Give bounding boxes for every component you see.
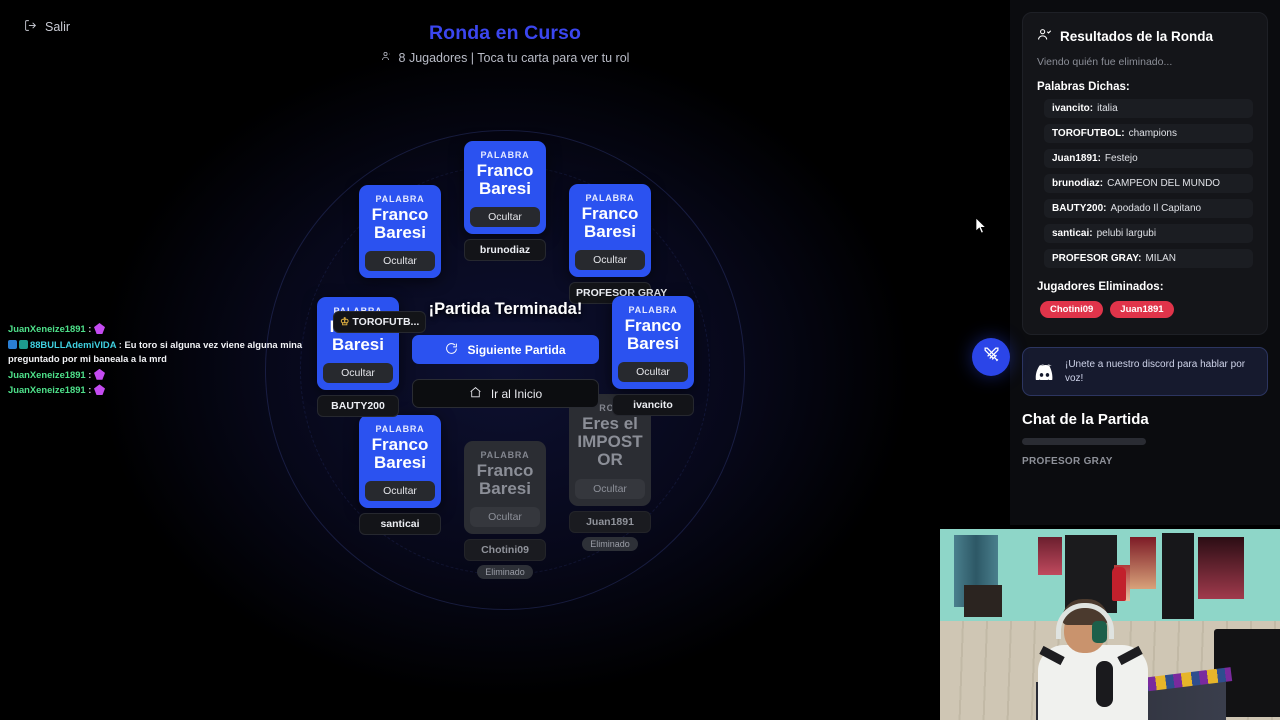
card-word: Franco Baresi xyxy=(617,317,689,353)
results-status-text: Viendo quién fue eliminado... xyxy=(1037,56,1253,68)
stage-header: Ronda en Curso 8 Jugadores | Toca tu car… xyxy=(0,22,1010,65)
users-icon xyxy=(381,50,393,65)
word-row: TOROFUTBOL:champions xyxy=(1044,124,1253,143)
word-row: brunodiaz:CAMPEON DEL MUNDO xyxy=(1044,174,1253,193)
card-kind-label: PALABRA xyxy=(364,194,436,204)
results-header: Resultados de la Ronda xyxy=(1037,27,1253,45)
webcam-headphone-earcup xyxy=(1092,621,1107,643)
hide-button[interactable]: Ocultar xyxy=(575,479,645,499)
player-name: Juan1891 xyxy=(569,511,651,533)
bits-badge-icon xyxy=(19,340,28,349)
card-word: Franco Baresi xyxy=(364,206,436,242)
twitch-chat-overlay: JuanXeneize1891 : 88BULLAdemiVIDA : Eu t… xyxy=(8,322,348,399)
word-row-player: TOROFUTBOL: xyxy=(1052,128,1125,139)
player-name: santicai xyxy=(359,513,441,535)
round-results-panel: Resultados de la Ronda Viendo quién fue … xyxy=(1022,12,1268,335)
word-row-player: BAUTY200: xyxy=(1052,203,1106,214)
twitch-chat-line: JuanXeneize1891 : xyxy=(8,322,348,337)
webcam-poster xyxy=(1198,537,1244,599)
swords-fab-button[interactable] xyxy=(972,338,1010,376)
round-subtitle: 8 Jugadores | Toca tu carta para ver tu … xyxy=(0,50,1010,65)
webcam-shelf xyxy=(964,585,1002,617)
word-row-word: MILAN xyxy=(1145,253,1176,264)
twitch-emote-icon xyxy=(94,384,105,395)
next-round-label: Siguiente Partida xyxy=(467,343,565,357)
discord-icon xyxy=(1034,364,1055,380)
card-role-text: Eres el IMPOSTOR xyxy=(574,415,646,470)
card-word: Franco Baresi xyxy=(574,205,646,241)
refresh-icon xyxy=(445,342,458,358)
game-over-panel: ¡Partida Terminada! Siguiente Partida Ir… xyxy=(412,300,599,408)
webcam-figure xyxy=(1112,567,1126,601)
word-row-word: Apodado Il Capitano xyxy=(1110,203,1201,214)
eliminated-badge: Eliminado xyxy=(582,537,638,551)
word-row: ivancito:italia xyxy=(1044,99,1253,118)
webcam-video xyxy=(940,529,1280,720)
round-subtitle-text: 8 Jugadores | Toca tu carta para ver tu … xyxy=(399,51,630,65)
card-word: Franco Baresi xyxy=(469,462,541,498)
twitch-chat-username: JuanXeneize1891 xyxy=(8,369,86,380)
page-title: Ronda en Curso xyxy=(0,22,1010,45)
word-card[interactable]: PALABRA Franco Baresi Ocultar xyxy=(612,296,694,389)
eliminated-badge: Eliminado xyxy=(477,565,533,579)
chat-scrollbar[interactable] xyxy=(1022,438,1146,445)
home-icon xyxy=(469,386,482,402)
results-title: Resultados de la Ronda xyxy=(1060,29,1213,44)
twitch-chat-username: JuanXeneize1891 xyxy=(8,384,86,395)
sub-badge-icon xyxy=(8,340,17,349)
eliminated-chip: Juan1891 xyxy=(1110,301,1173,318)
card-kind-label: PALABRA xyxy=(364,424,436,434)
twitch-chat-line: 88BULLAdemiVIDA : Eu toro si alguna vez … xyxy=(8,338,348,367)
twitch-emote-icon xyxy=(94,323,105,334)
hide-button[interactable]: Ocultar xyxy=(365,481,435,501)
webcam-microphone xyxy=(1096,661,1113,707)
webcam-overlay xyxy=(940,525,1280,720)
card-kind-label: PALABRA xyxy=(469,150,541,160)
card-kind-label: PALABRA xyxy=(617,305,689,315)
twitch-chat-username: 88BULLAdemiVIDA xyxy=(30,339,116,350)
eliminated-section-title: Jugadores Eliminados: xyxy=(1037,281,1253,293)
hide-button[interactable]: Ocultar xyxy=(323,363,393,383)
twitch-chat-username: JuanXeneize1891 xyxy=(8,323,86,334)
player-card-brunodiaz[interactable]: PALABRA Franco Baresi Ocultar brunodiaz xyxy=(464,141,546,261)
match-chat-messages: PROFESOR GRAY xyxy=(1022,456,1268,467)
player-card-santicai[interactable]: PALABRA Franco Baresi Ocultar santicai xyxy=(359,415,441,535)
hide-button[interactable]: Ocultar xyxy=(365,251,435,271)
word-card[interactable]: PALABRA Franco Baresi Ocultar xyxy=(359,415,441,508)
player-name: ivancito xyxy=(612,394,694,416)
crown-icon: ♔ xyxy=(340,316,349,328)
webcam-poster xyxy=(1038,537,1062,575)
hide-button[interactable]: Ocultar xyxy=(470,507,540,527)
word-card[interactable]: PALABRA Franco Baresi Ocultar xyxy=(569,184,651,277)
word-card[interactable]: PALABRA Franco Baresi Ocultar xyxy=(359,185,441,278)
player-name: BAUTY200 xyxy=(317,395,399,417)
player-card-upper-left[interactable]: PALABRA Franco Baresi Ocultar xyxy=(359,185,441,278)
discord-invite-banner[interactable]: ¡Unete a nuestro discord para hablar por… xyxy=(1022,347,1268,396)
word-row-word: pelubi largubi xyxy=(1097,228,1157,239)
webcam-poster xyxy=(1130,537,1156,589)
twitch-chat-line: JuanXeneize1891 : xyxy=(8,368,348,383)
next-round-button[interactable]: Siguiente Partida xyxy=(412,335,599,364)
player-card-chotini09[interactable]: PALABRA Franco Baresi Ocultar Chotini09 … xyxy=(464,441,546,579)
go-home-button[interactable]: Ir al Inicio xyxy=(412,379,599,408)
user-check-icon xyxy=(1037,27,1052,45)
twitch-emote-icon xyxy=(94,369,105,380)
game-stage: Salir Ronda en Curso 8 Jugadores | Toca … xyxy=(0,0,1010,720)
word-card[interactable]: PALABRA Franco Baresi Ocultar xyxy=(464,441,546,534)
player-name: Chotini09 xyxy=(464,539,546,561)
word-row: PROFESOR GRAY:MILAN xyxy=(1044,249,1253,268)
eliminated-players-list: Chotini09 Juan1891 xyxy=(1040,301,1253,318)
word-row-word: Festejo xyxy=(1105,153,1138,164)
word-row-word: CAMPEON DEL MUNDO xyxy=(1107,178,1220,189)
word-row-player: brunodiaz: xyxy=(1052,178,1103,189)
word-row-word: champions xyxy=(1129,128,1177,139)
chat-message-author: PROFESOR GRAY xyxy=(1022,456,1268,467)
discord-invite-text: ¡Unete a nuestro discord para hablar por… xyxy=(1065,358,1256,385)
webcam-door xyxy=(1162,533,1194,619)
hide-button[interactable]: Ocultar xyxy=(575,250,645,270)
word-row-word: italia xyxy=(1097,103,1118,114)
word-card[interactable]: PALABRA Franco Baresi Ocultar xyxy=(464,141,546,234)
app-root: Salir Ronda en Curso 8 Jugadores | Toca … xyxy=(0,0,1280,720)
word-row: BAUTY200:Apodado Il Capitano xyxy=(1044,199,1253,218)
word-row-player: PROFESOR GRAY: xyxy=(1052,253,1141,264)
player-card-ivancito[interactable]: PALABRA Franco Baresi Ocultar ivancito xyxy=(612,296,694,416)
word-row: Juan1891:Festejo xyxy=(1044,149,1253,168)
mouse-cursor xyxy=(975,217,987,240)
word-row-player: ivancito: xyxy=(1052,103,1093,114)
card-word: Franco Baresi xyxy=(364,436,436,472)
swords-icon xyxy=(983,346,1000,368)
word-row: santicai:pelubi largubi xyxy=(1044,224,1253,243)
card-word: Franco Baresi xyxy=(469,162,541,198)
card-kind-label: PALABRA xyxy=(574,193,646,203)
twitch-chat-line: JuanXeneize1891 : xyxy=(8,383,348,398)
words-section-title: Palabras Dichas: xyxy=(1037,81,1253,93)
card-kind-label: PALABRA xyxy=(469,450,541,460)
word-row-player: santicai: xyxy=(1052,228,1093,239)
player-name: brunodiaz xyxy=(464,239,546,261)
word-row-player: Juan1891: xyxy=(1052,153,1101,164)
player-card-juan1891[interactable]: ROL Eres el IMPOSTOR Ocultar Juan1891 El… xyxy=(569,394,651,551)
player-card-profesor-gray[interactable]: PALABRA Franco Baresi Ocultar PROFESOR G… xyxy=(569,184,651,304)
hide-button[interactable]: Ocultar xyxy=(470,207,540,227)
go-home-label: Ir al Inicio xyxy=(491,387,542,401)
player-name-torofutbol-label: TOROFUTB... xyxy=(352,316,419,328)
eliminated-chip: Chotini09 xyxy=(1040,301,1103,318)
match-chat-title: Chat de la Partida xyxy=(1022,411,1268,428)
hide-button[interactable]: Ocultar xyxy=(618,362,688,382)
game-over-title: ¡Partida Terminada! xyxy=(412,300,599,319)
